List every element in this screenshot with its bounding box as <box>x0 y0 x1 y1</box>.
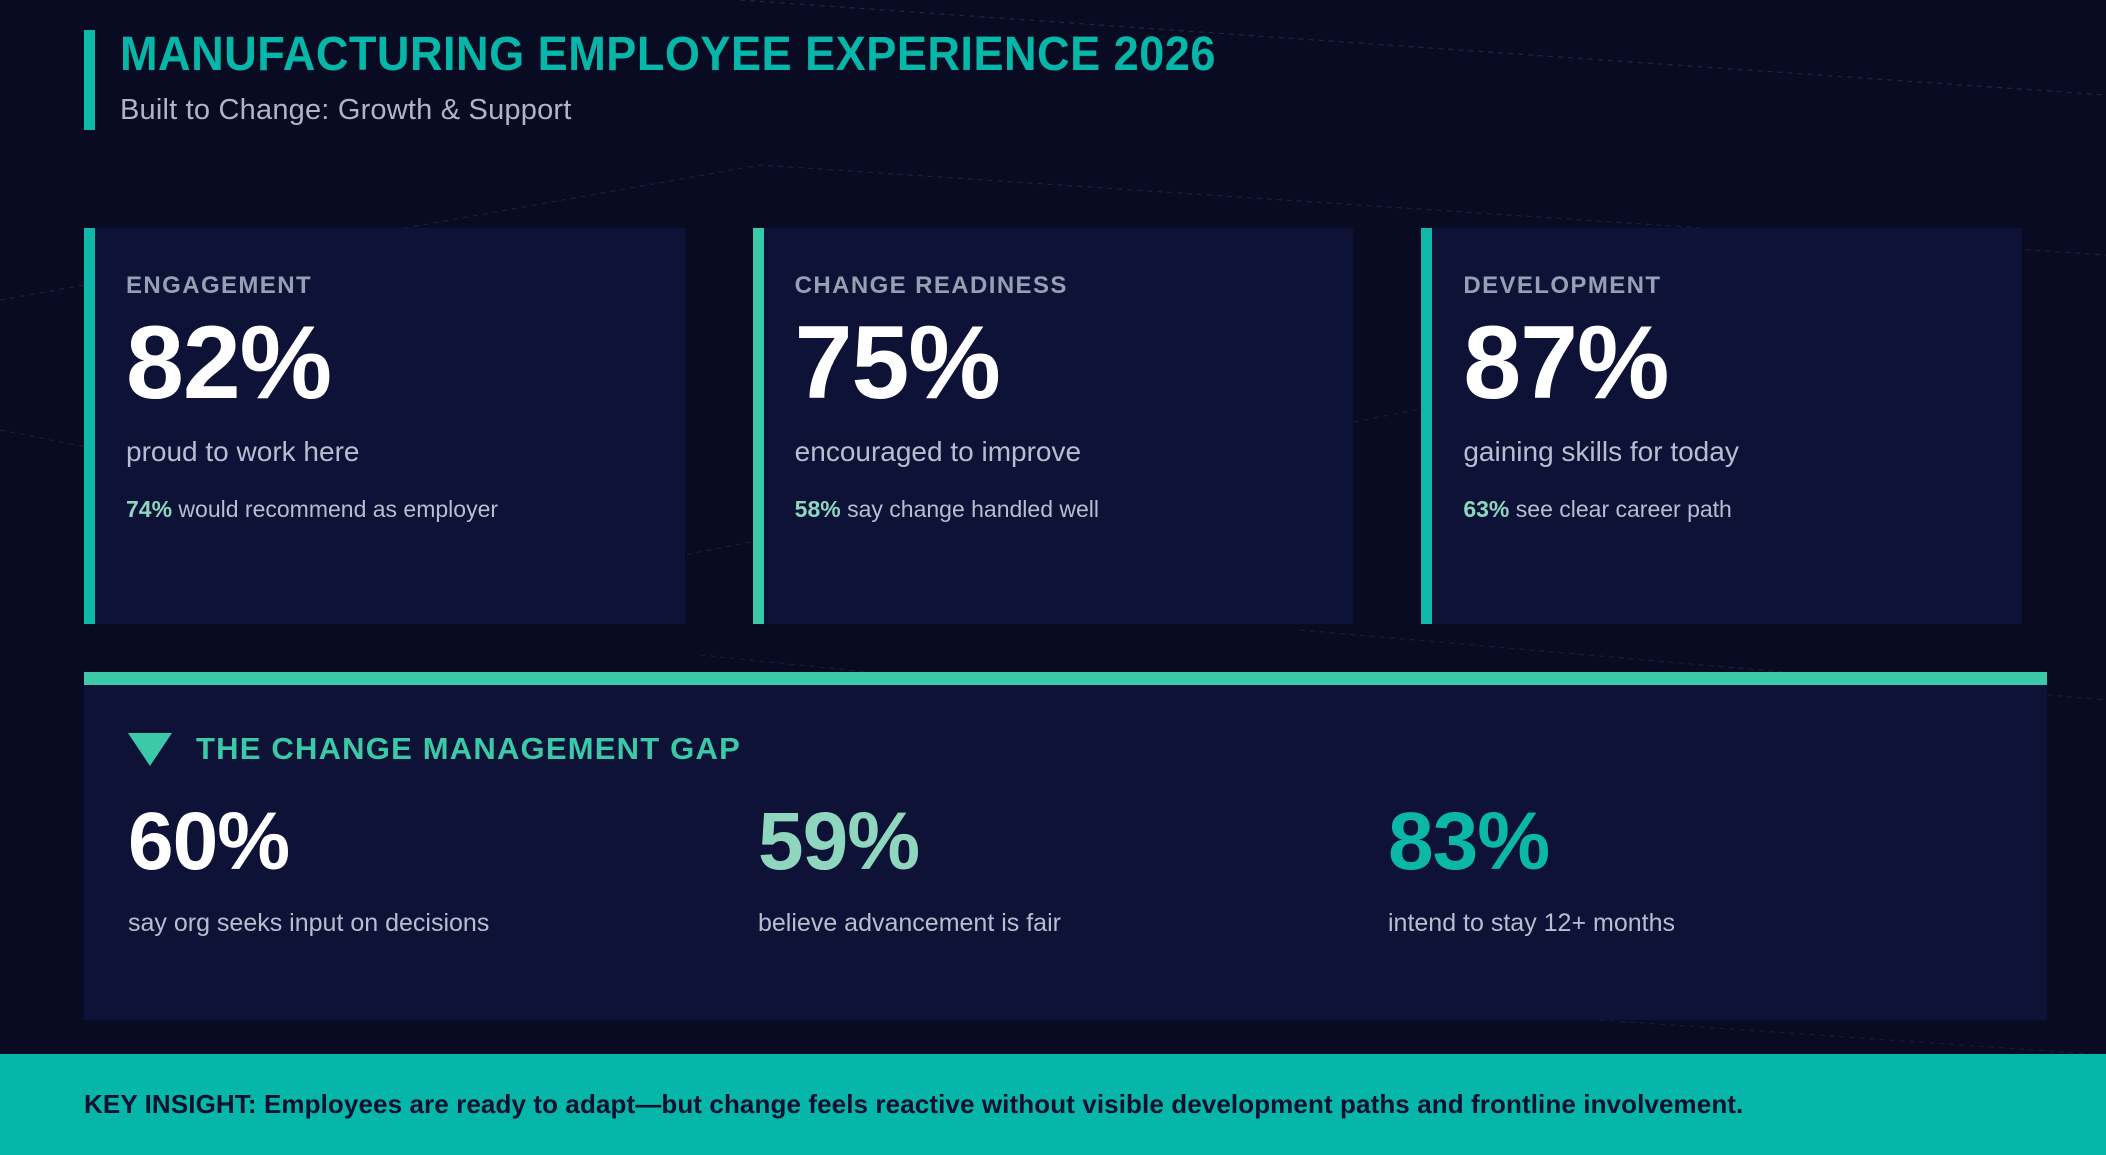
page-title: MANUFACTURING EMPLOYEE EXPERIENCE 2026 <box>120 30 1872 80</box>
gap-stat-caption: believe advancement is fair <box>758 909 1388 938</box>
page-subtitle: Built to Change: Growth & Support <box>120 94 1984 127</box>
kpi-sub-value: 74% <box>126 496 172 522</box>
kpi-sub-value: 58% <box>795 496 841 522</box>
kpi-subline: 74% would recommend as employer <box>126 496 685 523</box>
kpi-subline: 58% say change handled well <box>795 496 1354 523</box>
gap-stat-caption: say org seeks input on decisions <box>128 909 758 938</box>
kpi-card-row: ENGAGEMENT 82% proud to work here 74% wo… <box>84 228 2022 624</box>
kpi-card-development: DEVELOPMENT 87% gaining skills for today… <box>1421 228 2022 624</box>
card-accent-bar <box>1421 228 1432 624</box>
kpi-card-engagement: ENGAGEMENT 82% proud to work here 74% wo… <box>84 228 685 624</box>
kpi-caption: encouraged to improve <box>795 436 1354 468</box>
infographic-root: MANUFACTURING EMPLOYEE EXPERIENCE 2026 B… <box>0 0 2106 1155</box>
gap-stat-intend-to-stay: 83% intend to stay 12+ months <box>1388 801 2018 938</box>
kpi-subline: 63% see clear career path <box>1463 496 2022 523</box>
gap-stat-value: 59% <box>758 801 1388 883</box>
gap-stat-caption: intend to stay 12+ months <box>1388 909 2018 938</box>
key-insight-bar: KEY INSIGHT: Employees are ready to adap… <box>0 1054 2106 1155</box>
kpi-label: ENGAGEMENT <box>126 272 685 300</box>
gap-stat-value: 60% <box>128 801 758 883</box>
triangle-down-icon <box>128 733 172 766</box>
kpi-value: 82% <box>126 310 685 416</box>
kpi-sub-value: 63% <box>1463 496 1509 522</box>
header-accent-bar <box>84 30 95 130</box>
kpi-label: CHANGE READINESS <box>795 272 1354 300</box>
kpi-sub-text: see clear career path <box>1509 496 1731 522</box>
gap-stat-input-on-decisions: 60% say org seeks input on decisions <box>128 801 758 938</box>
kpi-sub-text: say change handled well <box>841 496 1099 522</box>
gap-stat-value: 83% <box>1388 801 2018 883</box>
kpi-label: DEVELOPMENT <box>1463 272 2022 300</box>
gap-panel-header: THE CHANGE MANAGEMENT GAP <box>84 685 2047 767</box>
card-accent-bar <box>753 228 764 624</box>
header: MANUFACTURING EMPLOYEE EXPERIENCE 2026 B… <box>84 30 1984 130</box>
key-insight-text: KEY INSIGHT: Employees are ready to adap… <box>0 1089 1743 1120</box>
card-accent-bar <box>84 228 95 624</box>
gap-stat-row: 60% say org seeks input on decisions 59%… <box>84 767 2047 938</box>
kpi-caption: proud to work here <box>126 436 685 468</box>
kpi-value: 75% <box>795 310 1354 416</box>
kpi-sub-text: would recommend as employer <box>172 496 498 522</box>
kpi-value: 87% <box>1463 310 2022 416</box>
gap-panel-title: THE CHANGE MANAGEMENT GAP <box>196 731 741 767</box>
kpi-caption: gaining skills for today <box>1463 436 2022 468</box>
gap-stat-advancement-fair: 59% believe advancement is fair <box>758 801 1388 938</box>
change-management-gap-panel: THE CHANGE MANAGEMENT GAP 60% say org se… <box>84 672 2047 1020</box>
kpi-card-change-readiness: CHANGE READINESS 75% encouraged to impro… <box>753 228 1354 624</box>
